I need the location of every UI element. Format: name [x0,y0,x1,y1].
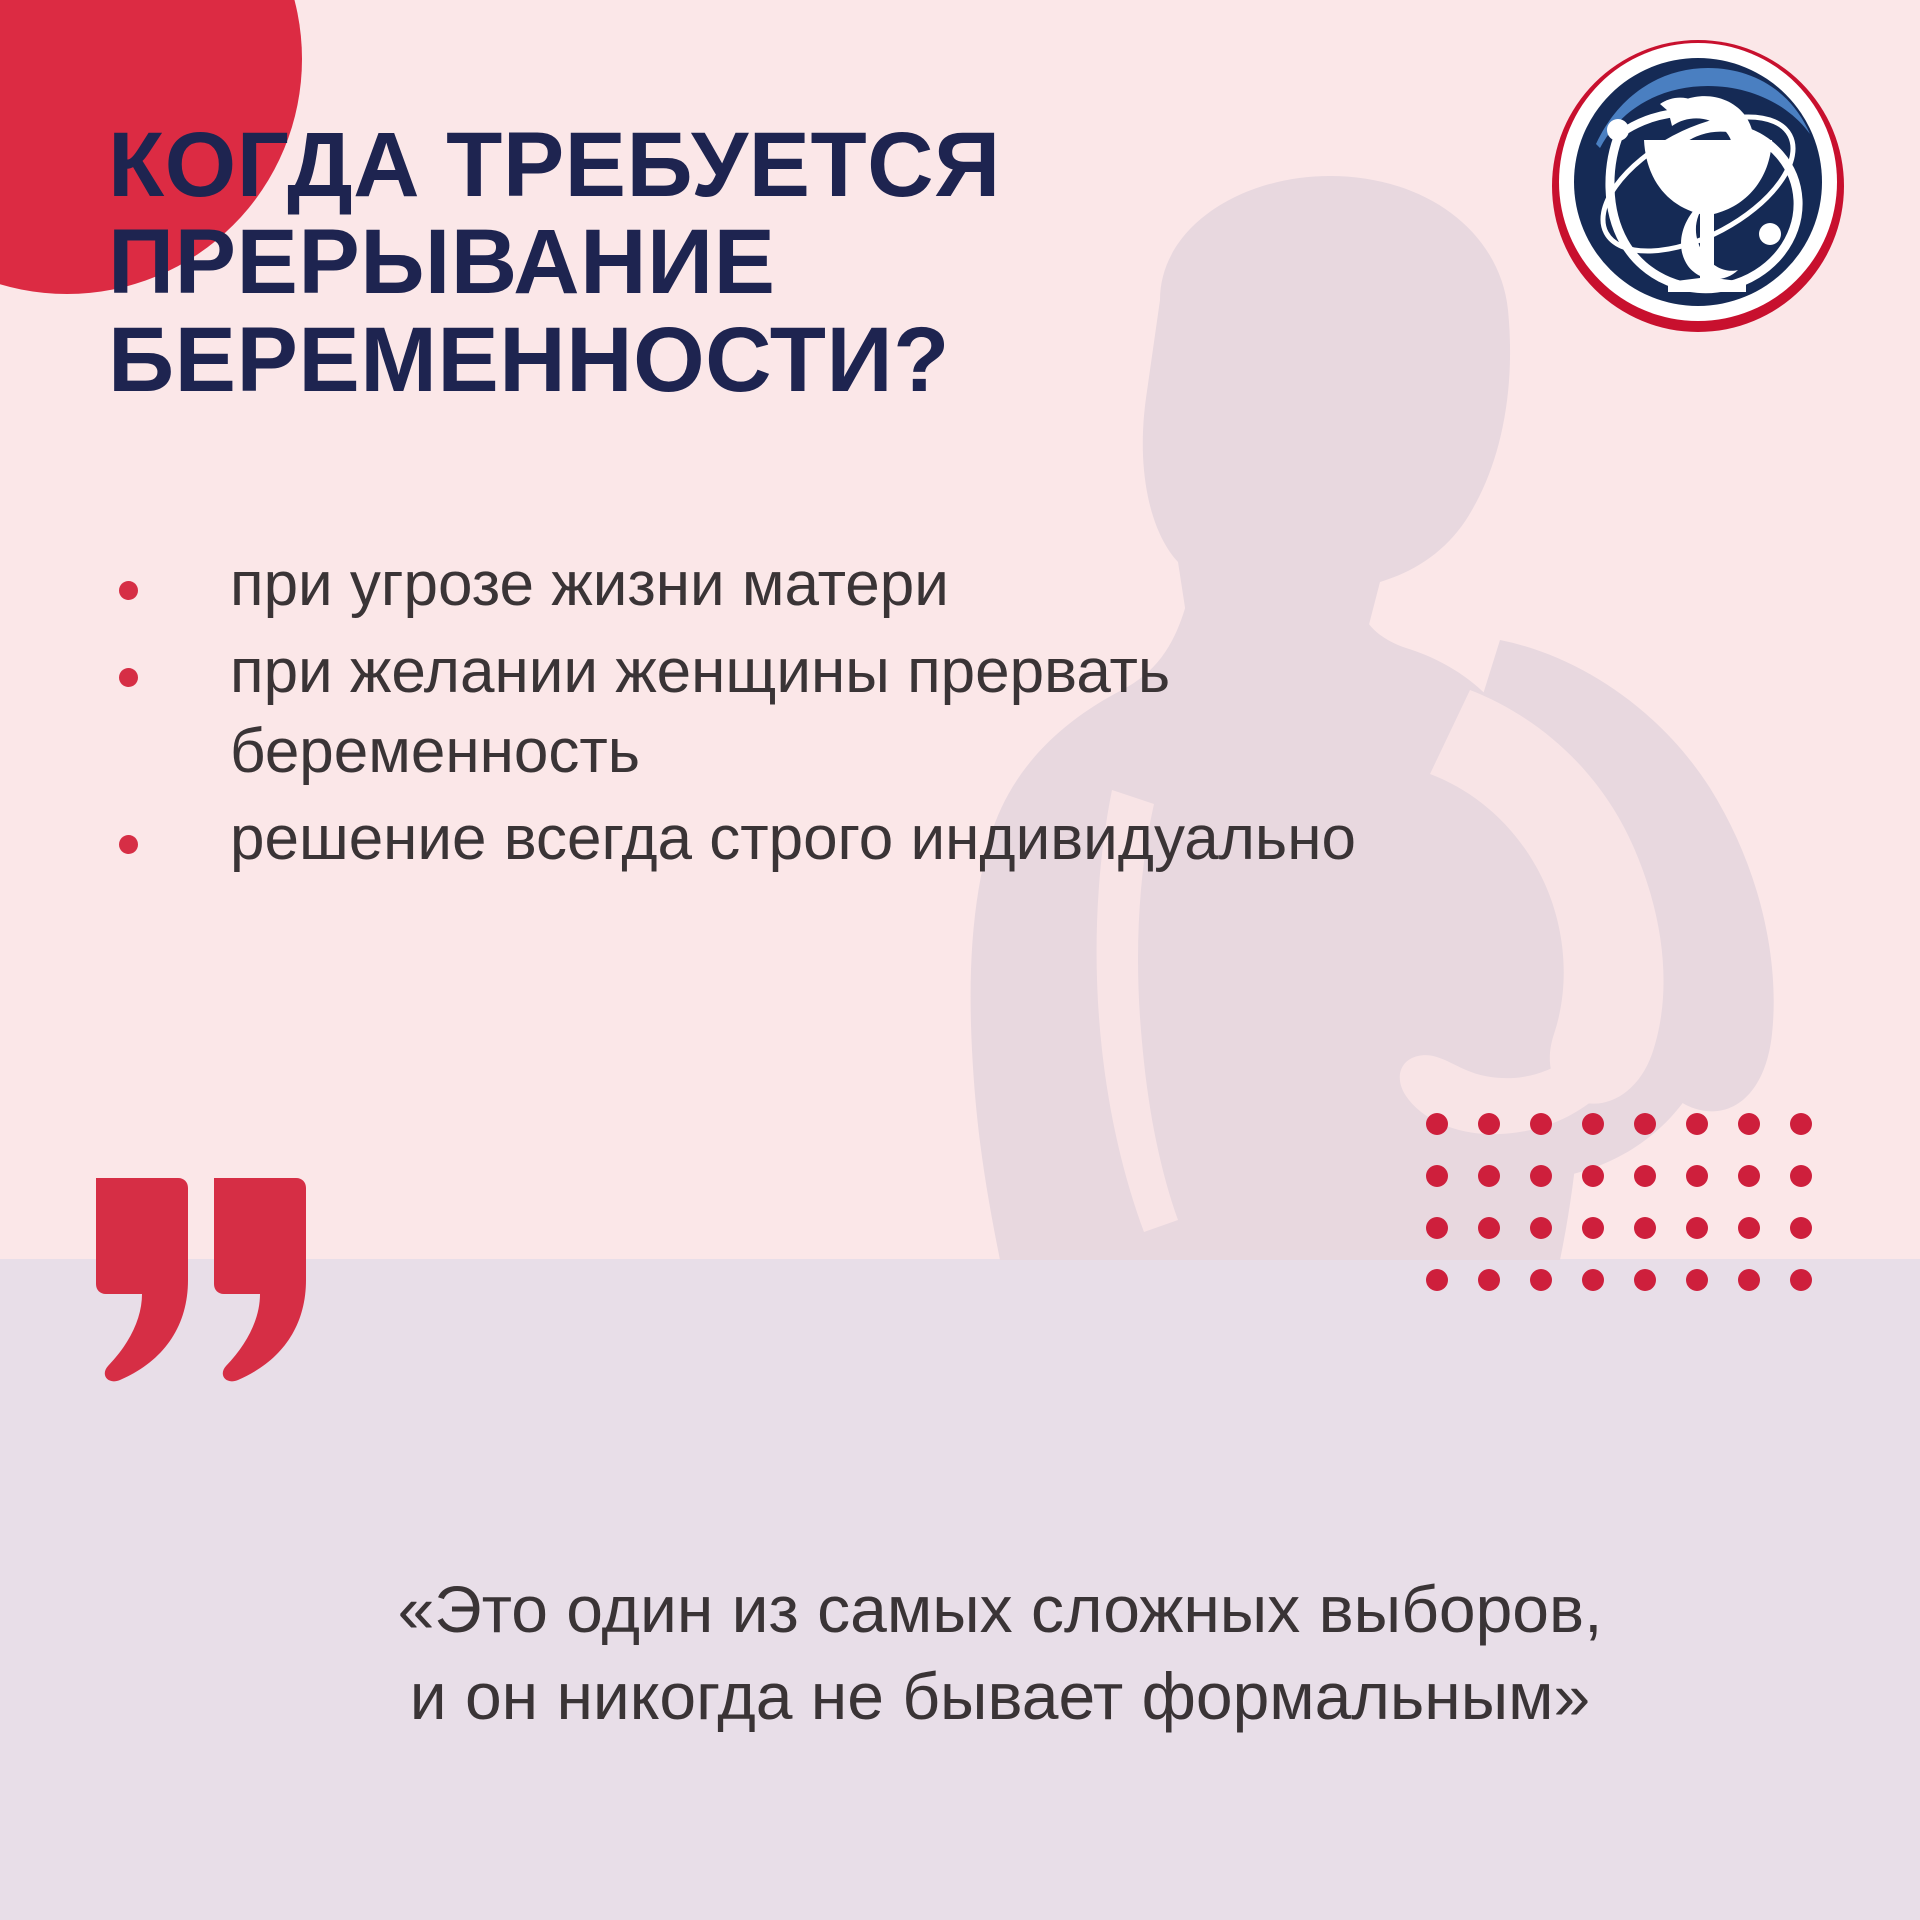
quote-text: «Это один из самых сложных выборов, и он… [150,1566,1850,1740]
title-line-1: КОГДА ТРЕБУЕТСЯ [108,117,1268,215]
grid-dot [1790,1217,1812,1239]
grid-dot [1582,1165,1604,1187]
grid-dot [1686,1269,1708,1291]
list-item: решение всегда строго индивидуально [100,799,1390,878]
grid-dot [1790,1269,1812,1291]
grid-dot [1478,1269,1500,1291]
grid-dot [1738,1165,1760,1187]
grid-dot [1582,1113,1604,1135]
dot-grid-decoration [1426,1113,1826,1333]
grid-dot [1634,1217,1656,1239]
grid-dot [1790,1113,1812,1135]
list-item: при желании женщины прервать беременност… [100,632,1390,791]
grid-dot [1738,1113,1760,1135]
grid-dot [1530,1217,1552,1239]
grid-dot [1426,1165,1448,1187]
grid-dot [1634,1269,1656,1291]
grid-dot [1426,1217,1448,1239]
title-line-2: ПРЕРЫВАНИЕ [108,214,1268,312]
page-title: КОГДА ТРЕБУЕТСЯ ПРЕРЫВАНИЕ БЕРЕМЕННОСТИ? [108,117,1268,410]
bullet-dot-icon [119,581,138,600]
grid-dot [1686,1113,1708,1135]
grid-dot [1582,1269,1604,1291]
grid-dot [1738,1217,1760,1239]
grid-dot [1738,1269,1760,1291]
grid-dot [1478,1217,1500,1239]
grid-dot [1426,1113,1448,1135]
bullet-dot-icon [119,668,138,687]
grid-dot [1686,1165,1708,1187]
quote-line-2: и он никогда не бывает формальным» [150,1653,1850,1740]
grid-dot [1686,1217,1708,1239]
grid-dot [1634,1165,1656,1187]
grid-dot [1530,1165,1552,1187]
grid-dot [1478,1165,1500,1187]
list-item: при угрозе жизни матери [100,545,1390,624]
double-quote-close-icon [86,1168,316,1383]
grid-dot [1530,1113,1552,1135]
grid-dot [1790,1165,1812,1187]
bullet-dot-icon [119,835,138,854]
list-item-label: при угрозе жизни матери [230,550,949,619]
reasons-list: при угрозе жизни матери при желании женщ… [100,545,1390,886]
infographic-poster: КОГДА ТРЕБУЕТСЯ ПРЕРЫВАНИЕ БЕРЕМЕННОСТИ? [0,0,1920,1920]
list-item-label: при желании женщины прервать беременност… [230,637,1170,785]
medical-emblem-logo [1548,34,1848,334]
grid-dot [1426,1269,1448,1291]
grid-dot [1530,1269,1552,1291]
title-line-3: БЕРЕМЕННОСТИ? [108,312,1268,410]
quote-line-1: «Это один из самых сложных выборов, [150,1566,1850,1653]
grid-dot [1478,1113,1500,1135]
grid-dot [1634,1113,1656,1135]
list-item-label: решение всегда строго индивидуально [230,804,1356,873]
grid-dot [1582,1217,1604,1239]
